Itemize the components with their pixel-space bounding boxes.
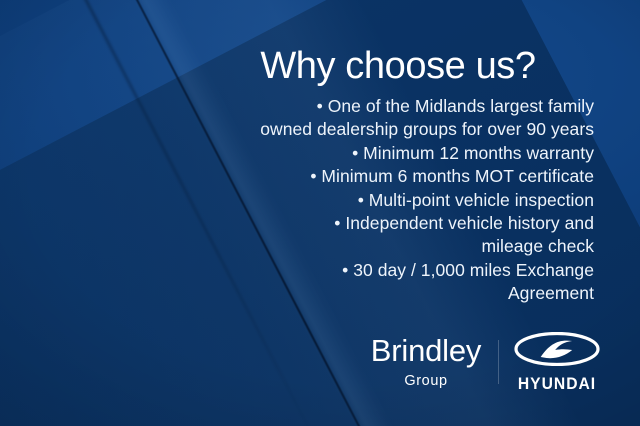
hyundai-wordmark: HYUNDAI xyxy=(513,375,601,392)
brindley-subtitle: Group xyxy=(360,374,492,389)
hyundai-emblem-icon xyxy=(509,332,605,370)
benefit-line: mileage check xyxy=(194,235,594,258)
benefit-line: • Independent vehicle history and xyxy=(194,212,594,235)
brindley-wordmark: Brindley xyxy=(360,335,492,366)
logo-divider xyxy=(498,340,499,384)
benefit-line: owned dealership groups for over 90 year… xyxy=(194,118,594,141)
brindley-group-logo: Brindley Group xyxy=(360,335,492,389)
logo-row: Brindley Group HYUNDAI xyxy=(360,326,606,398)
benefit-line: • Minimum 12 months warranty xyxy=(194,142,594,165)
benefit-line: • One of the Midlands largest family xyxy=(194,95,594,118)
benefit-line: Agreement xyxy=(194,282,594,305)
benefits-list: • One of the Midlands largest family own… xyxy=(194,95,594,306)
benefit-line: • Multi-point vehicle inspection xyxy=(194,189,594,212)
page-title: Why choose us? xyxy=(200,47,596,87)
benefit-line: • 30 day / 1,000 miles Exchange xyxy=(194,259,594,282)
benefit-line: • Minimum 6 months MOT certificate xyxy=(194,165,594,188)
hyundai-logo: HYUNDAI xyxy=(509,332,605,392)
promo-banner: Why choose us? • One of the Midlands lar… xyxy=(0,0,640,426)
